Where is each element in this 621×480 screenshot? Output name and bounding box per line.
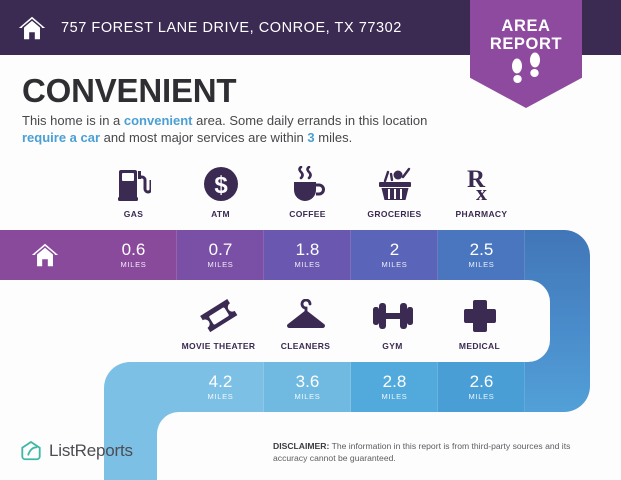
distance-segment-gas: 0.6 MILES xyxy=(90,230,177,280)
logo-text: ListReports xyxy=(49,441,133,461)
desc-part-1: This home is in a xyxy=(22,113,124,128)
amenity-cleaners: CLEANERS xyxy=(262,296,349,351)
distance-segment-movie-theater: 4.2 MILES xyxy=(177,362,264,412)
clothes-hanger-icon xyxy=(262,296,349,336)
distance-value: 3.6 xyxy=(296,373,320,391)
footprints-icon xyxy=(470,58,582,84)
amenity-label: COFFEE xyxy=(264,209,351,219)
badge-line-1: AREA xyxy=(470,17,582,35)
coffee-cup-icon xyxy=(264,164,351,204)
area-report-badge: AREA REPORT xyxy=(470,0,582,108)
home-icon xyxy=(17,13,47,43)
distance-value: 0.7 xyxy=(209,241,233,259)
desc-highlight-require-a-car: require a car xyxy=(22,130,100,145)
distance-value: 1.8 xyxy=(296,241,320,259)
desc-part-2: area. Some daily errands in this locatio… xyxy=(193,113,428,128)
rx-prescription-icon: R x xyxy=(438,164,525,204)
distance-segment-atm: 0.7 MILES xyxy=(177,230,264,280)
bar-connector-left-notch xyxy=(157,412,217,480)
description-text: This home is in a convenient area. Some … xyxy=(22,113,442,146)
distance-value: 2.6 xyxy=(470,373,494,391)
listreports-logo: ListReports xyxy=(20,440,133,462)
gas-pump-icon xyxy=(90,164,177,204)
distance-unit: MILES xyxy=(207,260,233,269)
medical-cross-icon xyxy=(436,296,523,336)
distance-unit: MILES xyxy=(381,392,407,401)
amenity-gym: GYM xyxy=(349,296,436,351)
amenity-label: ATM xyxy=(177,209,264,219)
property-address: 757 FOREST LANE DRIVE, CONROE, TX 77302 xyxy=(61,20,402,36)
distance-unit: MILES xyxy=(294,260,320,269)
distance-bar-row-1: 0.6 MILES 0.7 MILES 1.8 MILES 2 MILES 2.… xyxy=(0,230,525,280)
amenity-coffee: COFFEE xyxy=(264,164,351,219)
distance-unit: MILES xyxy=(294,392,320,401)
svg-text:x: x xyxy=(476,180,487,203)
amenity-label: MEDICAL xyxy=(436,341,523,351)
amenity-icon-row-1: GAS $ ATM COFFEE xyxy=(90,164,525,219)
distance-segment-pharmacy: 2.5 MILES xyxy=(438,230,525,280)
amenity-movie-theater: MOVIE THEATER xyxy=(175,296,262,351)
desc-part-3: and most major services are within xyxy=(100,130,307,145)
amenity-groceries: GROCERIES xyxy=(351,164,438,219)
grocery-basket-icon xyxy=(351,164,438,204)
distance-value: 2.8 xyxy=(383,373,407,391)
distance-unit: MILES xyxy=(120,260,146,269)
amenity-label: GROCERIES xyxy=(351,209,438,219)
distance-unit: MILES xyxy=(468,260,494,269)
amenity-icon-row-2: MOVIE THEATER CLEANERS GYM xyxy=(175,296,523,351)
distance-segment-gym: 2.8 MILES xyxy=(351,362,438,412)
distance-unit: MILES xyxy=(468,392,494,401)
distance-unit: MILES xyxy=(381,260,407,269)
dollar-circle-icon: $ xyxy=(177,164,264,204)
svg-text:$: $ xyxy=(214,172,228,199)
distance-value: 0.6 xyxy=(122,241,146,259)
amenity-label: MOVIE THEATER xyxy=(175,341,262,351)
amenity-medical: MEDICAL xyxy=(436,296,523,351)
dumbbell-icon xyxy=(349,296,436,336)
badge-line-2: REPORT xyxy=(470,35,582,53)
disclaimer: DISCLAIMER: The information in this repo… xyxy=(273,441,603,464)
distance-value: 2.5 xyxy=(470,241,494,259)
amenity-label: PHARMACY xyxy=(438,209,525,219)
amenity-pharmacy: R x PHARMACY xyxy=(438,164,525,219)
distance-segment-groceries: 2 MILES xyxy=(351,230,438,280)
desc-highlight-miles: 3 xyxy=(307,130,314,145)
amenity-label: GYM xyxy=(349,341,436,351)
amenity-label: CLEANERS xyxy=(262,341,349,351)
distance-value: 2 xyxy=(390,241,399,259)
page-title: CONVENIENT xyxy=(22,72,236,110)
desc-highlight-convenient: convenient xyxy=(124,113,193,128)
desc-part-4: miles. xyxy=(315,130,353,145)
listreports-house-icon xyxy=(20,440,42,462)
amenity-gas: GAS xyxy=(90,164,177,219)
home-icon xyxy=(30,240,60,270)
amenity-atm: $ ATM xyxy=(177,164,264,219)
disclaimer-label: DISCLAIMER: xyxy=(273,441,329,451)
distance-bar-row-2: 4.2 MILES 3.6 MILES 2.8 MILES 2.6 MILES xyxy=(177,362,525,412)
movie-ticket-icon xyxy=(175,296,262,336)
badge-label: AREA REPORT xyxy=(470,0,582,53)
distance-unit: MILES xyxy=(207,392,233,401)
distance-segment-cleaners: 3.6 MILES xyxy=(264,362,351,412)
area-report-infographic: 757 FOREST LANE DRIVE, CONROE, TX 77302 … xyxy=(0,0,621,480)
distance-segment-medical: 2.6 MILES xyxy=(438,362,525,412)
distance-segment-coffee: 1.8 MILES xyxy=(264,230,351,280)
distance-value: 4.2 xyxy=(209,373,233,391)
amenity-label: GAS xyxy=(90,209,177,219)
bar-connector-right-notch xyxy=(520,280,550,362)
bar-home-marker xyxy=(0,230,90,280)
